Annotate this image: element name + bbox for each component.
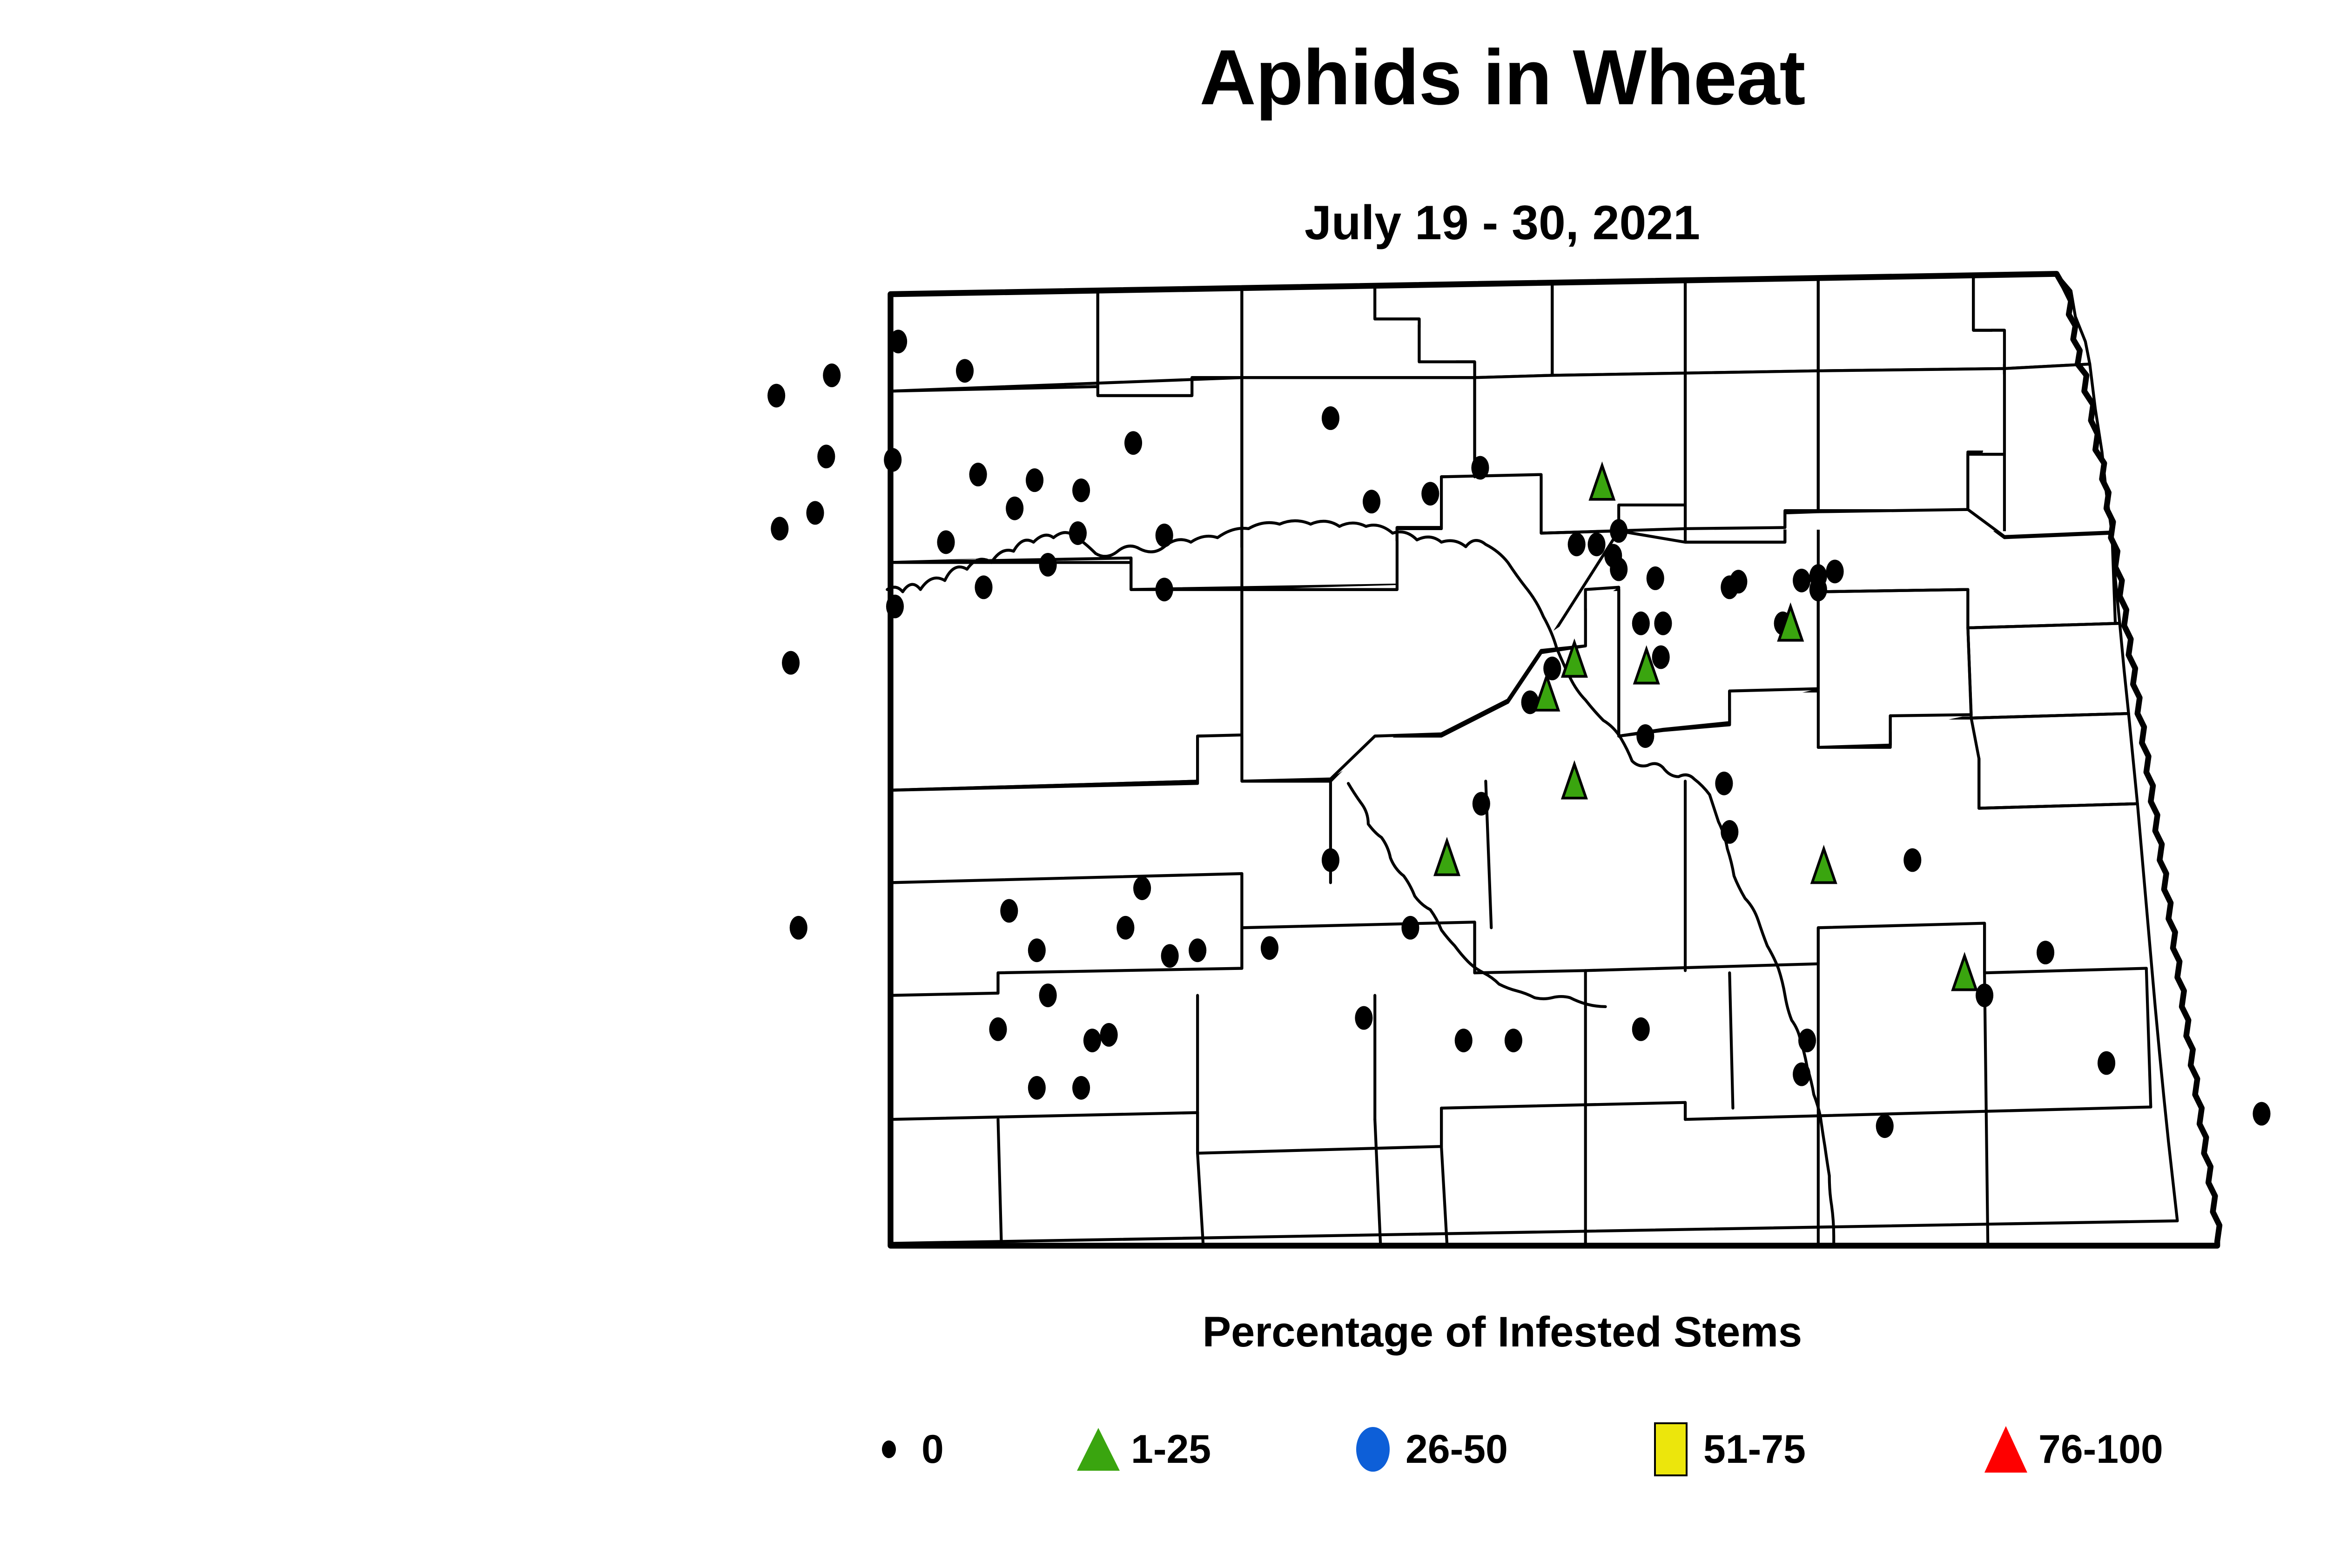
map-marker-zero: [886, 595, 904, 619]
map-marker-zero: [1006, 497, 1023, 520]
blue-circle-icon: [1340, 1427, 1406, 1472]
map-marker-zero: [1636, 724, 1654, 748]
map-marker-zero: [2098, 1051, 2115, 1075]
map-marker-zero: [1505, 1029, 1522, 1052]
map-marker-zero: [2253, 1102, 2270, 1126]
map-marker-zero: [1100, 1023, 1118, 1047]
map-marker-zero: [1133, 876, 1151, 900]
legend-item-label: 0: [921, 1427, 944, 1473]
map-marker-zero: [1729, 570, 1747, 593]
map-marker-zero: [1028, 938, 1046, 962]
map-marker-zero: [1116, 916, 1134, 940]
legend-item-label: 76-100: [2038, 1427, 2163, 1473]
map-marker-zero: [889, 330, 907, 353]
map-marker-zero: [790, 916, 807, 940]
map-marker-zero: [1189, 938, 1206, 962]
map-marker-zero: [969, 463, 987, 486]
map-marker-zero: [1587, 532, 1605, 556]
map-marker-zero: [956, 359, 974, 383]
map-marker-zero: [1647, 566, 1664, 590]
map-marker-zero: [806, 501, 824, 525]
legend-item-26-50[interactable]: 26-50: [1340, 1414, 1508, 1484]
map-marker-zero: [1715, 772, 1733, 795]
map-marker-zero: [771, 517, 788, 540]
map-marker-zero: [1363, 490, 1380, 513]
map-marker-zero: [1028, 1076, 1046, 1100]
legend-title: Percentage of Infested Stems: [0, 1308, 2327, 1357]
map-marker-zero: [1039, 983, 1057, 1007]
legend-item-label: 51-75: [1703, 1427, 1806, 1473]
map-marker-zero: [1421, 482, 1439, 505]
map-marker-zero: [1610, 558, 1628, 581]
map-marker-zero: [1793, 569, 1810, 592]
map-marker-zero: [1568, 532, 1586, 556]
map-svg: [666, 251, 2327, 1266]
map-marker-zero: [1903, 848, 1921, 872]
legend-item-0[interactable]: 0: [856, 1414, 944, 1484]
legend-item-label: 1-25: [1131, 1427, 1211, 1473]
map-marker-zero: [1826, 559, 1844, 583]
map-marker-zero: [937, 531, 955, 554]
map-marker-zero: [1072, 478, 1090, 502]
map-legend: Percentage of Infested Stems 0 1-25 26-5…: [0, 1308, 2327, 1503]
map-marker-zero: [1721, 820, 1738, 844]
map-marker-zero: [1026, 468, 1043, 492]
map-marker-zero: [989, 1017, 1007, 1041]
map-marker-zero: [1322, 406, 1339, 430]
map-marker-zero: [1798, 1029, 1816, 1052]
legend-items: 0 1-25 26-50 51-75: [0, 1414, 2327, 1503]
page-subtitle: July 19 - 30, 2021: [0, 195, 2327, 251]
map-marker-zero: [1156, 578, 1173, 601]
map-marker-zero: [1654, 612, 1672, 635]
legend-item-label: 26-50: [1406, 1427, 1508, 1473]
map-marker-zero: [1355, 1006, 1372, 1030]
map-marker-zero: [782, 651, 800, 675]
map-marker-zero: [1156, 524, 1173, 547]
map-marker-zero: [2037, 941, 2054, 964]
legend-item-1-25[interactable]: 1-25: [1066, 1414, 1211, 1484]
map-marker-zero: [884, 448, 901, 472]
map-marker-zero: [1124, 431, 1142, 455]
map-marker-zero: [1083, 1029, 1101, 1052]
map-marker-zero: [1039, 553, 1057, 577]
north-dakota-county-map: [666, 251, 2327, 1266]
map-marker-zero: [1809, 578, 1827, 601]
map-marker-zero: [1652, 646, 1670, 669]
red-triangle-icon: [1973, 1426, 2038, 1473]
yellow-square-icon: [1638, 1422, 1703, 1476]
green-triangle-icon: [1066, 1428, 1131, 1471]
map-marker-zero: [1610, 519, 1628, 543]
map-page: Aphids in Wheat July 19 - 30, 2021: [0, 0, 2327, 1568]
legend-item-51-75[interactable]: 51-75: [1638, 1414, 1806, 1484]
map-marker-zero: [1473, 792, 1490, 815]
map-marker-zero: [1072, 1076, 1090, 1100]
map-marker-zero: [767, 384, 785, 408]
map-marker-zero: [1471, 456, 1489, 480]
map-marker-zero: [1793, 1063, 1810, 1086]
map-marker-zero: [1261, 936, 1278, 960]
map-marker-zero: [1000, 899, 1018, 923]
map-marker-zero: [1322, 848, 1339, 872]
legend-item-76-100[interactable]: 76-100: [1973, 1414, 2163, 1484]
map-marker-zero: [1976, 983, 1993, 1007]
map-marker-zero: [975, 575, 992, 599]
map-marker-zero: [1632, 612, 1650, 635]
map-marker-zero: [1069, 521, 1087, 545]
map-marker-zero: [817, 444, 835, 468]
map-marker-zero: [1401, 916, 1419, 940]
map-marker-zero: [1455, 1029, 1473, 1052]
page-title: Aphids in Wheat: [0, 33, 2327, 122]
map-marker-zero: [1161, 944, 1179, 968]
black-dot-icon: [856, 1440, 921, 1458]
map-marker-zero: [823, 363, 841, 387]
map-marker-zero: [1876, 1114, 1894, 1138]
map-marker-zero: [1632, 1017, 1650, 1041]
